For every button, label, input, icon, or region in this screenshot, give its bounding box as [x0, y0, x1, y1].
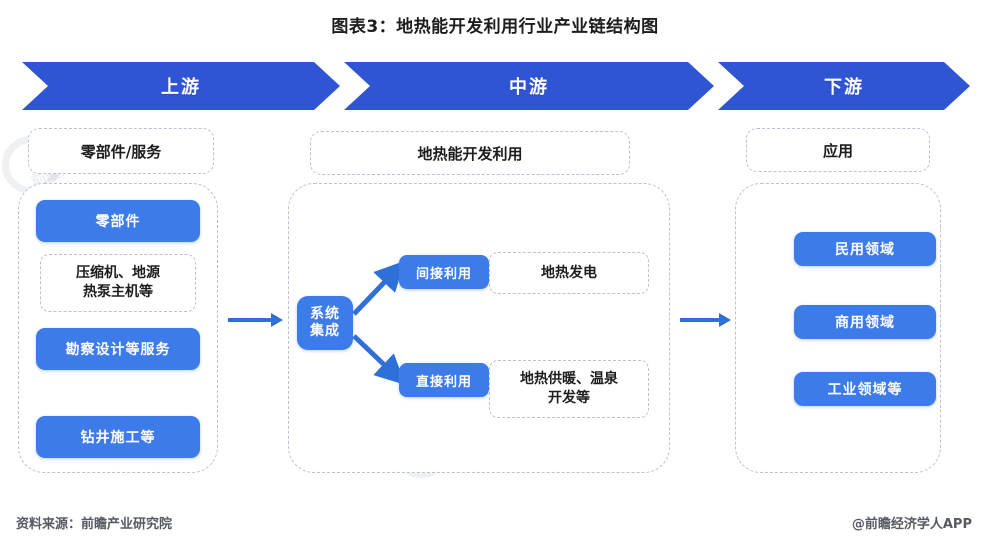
section-header-downstream: 应用 [746, 128, 930, 172]
value-chain-banner: 上游 中游 下游 [22, 62, 970, 110]
source-note: 资料来源：前瞻产业研究院 [16, 513, 172, 532]
arrow-upstream-to-midstream-icon [228, 318, 272, 322]
node-downstream-residential[interactable]: 民用领域 [794, 232, 936, 266]
node-upstream-components[interactable]: 零部件 [36, 200, 200, 242]
banner-stage-midstream-label: 中游 [509, 73, 549, 99]
arrow-midstream-to-downstream-icon [680, 318, 720, 322]
node-midstream-direct-use[interactable]: 直接利用 [399, 363, 489, 397]
banner-stage-upstream-label: 上游 [161, 73, 201, 99]
node-upstream-drilling-construction[interactable]: 钻井施工等 [36, 416, 200, 458]
banner-stage-midstream: 中游 [344, 62, 714, 110]
node-downstream-commercial[interactable]: 商用领域 [794, 305, 936, 339]
node-upstream-compressor-detail: 压缩机、地源热泵主机等 [40, 254, 196, 312]
node-midstream-indirect-use[interactable]: 间接利用 [399, 255, 489, 289]
node-midstream-heating-hotspring: 地热供暖、温泉开发等 [489, 360, 649, 418]
banner-stage-upstream: 上游 [22, 62, 340, 110]
banner-stage-downstream-label: 下游 [824, 73, 864, 99]
app-credit: @前瞻经济学人APP [852, 513, 972, 532]
node-midstream-geothermal-power: 地热发电 [489, 252, 649, 294]
section-header-midstream: 地热能开发利用 [310, 131, 630, 175]
node-upstream-survey-design-service[interactable]: 勘察设计等服务 [36, 328, 200, 370]
section-header-upstream: 零部件/服务 [28, 128, 214, 174]
page-title: 图表3：地热能开发利用行业产业链结构图 [0, 12, 990, 37]
banner-stage-downstream: 下游 [718, 62, 970, 110]
node-downstream-industrial[interactable]: 工业领域等 [794, 372, 936, 406]
